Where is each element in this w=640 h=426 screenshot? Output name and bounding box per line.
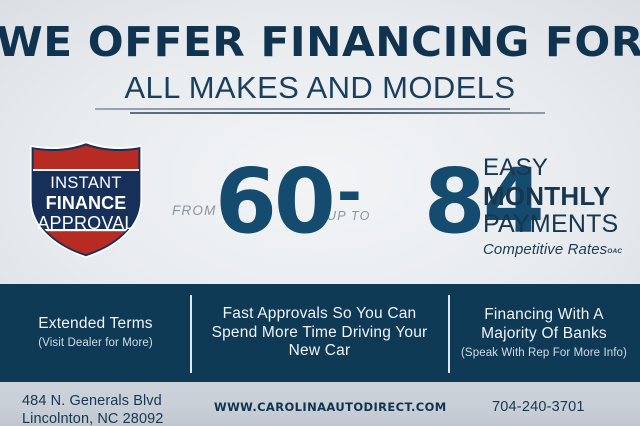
instant-finance-approval-badge: INSTANT FINANCE APPROVAL xyxy=(20,141,152,258)
address-line-2: Lincolnton, NC 28092 xyxy=(22,410,163,426)
feature-note: (Visit Dealer for More) xyxy=(8,337,183,351)
address-line-1: 484 N. Generals Blvd xyxy=(22,392,163,410)
features-band: Extended Terms (Visit Dealer for More) F… xyxy=(0,284,640,382)
from-label: FROM xyxy=(172,203,217,218)
divider-line-upper xyxy=(95,108,510,110)
feature-divider-left xyxy=(190,295,192,373)
feature-title: Extended Terms xyxy=(8,315,183,334)
feature-column-extended-terms: Extended Terms (Visit Dealer for More) xyxy=(0,315,191,351)
dealer-address: 484 N. Generals Blvd Lincolnton, NC 2809… xyxy=(22,392,163,426)
headline-primary: WE OFFER FINANCING FOR xyxy=(0,22,640,64)
term-range-dash: - xyxy=(337,166,362,221)
term-min-value: 60 xyxy=(215,161,333,243)
feature-column-majority-banks: Financing With A Majority Of Banks (Spea… xyxy=(448,306,640,361)
feature-divider-right xyxy=(448,295,450,373)
highway-shield-icon xyxy=(20,141,152,258)
monthly-payments-block: EASY MONTHLY PAYMENTS Competitive RatesO… xyxy=(483,156,635,257)
oac-superscript: OAC xyxy=(607,248,622,255)
headline-divider xyxy=(95,108,545,118)
feature-column-fast-approvals: Fast Approvals So You Can Spend More Tim… xyxy=(191,305,448,362)
competitive-rates-note: Competitive RatesOAC xyxy=(483,242,635,257)
divider-line-lower xyxy=(130,112,545,114)
terms-line-payments: PAYMENTS xyxy=(483,212,635,237)
competitive-rates-text: Competitive Rates xyxy=(483,241,607,258)
financing-promo-banner: WE OFFER FINANCING FOR ALL MAKES AND MOD… xyxy=(0,0,640,426)
feature-note: (Speak With Rep For More Info) xyxy=(456,347,632,361)
feature-title: Fast Approvals So You Can Spend More Tim… xyxy=(199,305,440,362)
dealer-phone[interactable]: 704-240-3701 xyxy=(492,399,585,415)
headline-secondary: ALL MAKES AND MODELS xyxy=(0,72,640,105)
dealer-website[interactable]: WWW.CAROLINAAUTODIRECT.COM xyxy=(214,400,447,414)
terms-line-easy: EASY xyxy=(483,156,635,180)
terms-line-monthly: MONTHLY xyxy=(483,183,635,209)
feature-title: Financing With A Majority Of Banks xyxy=(456,306,632,344)
headline-block: WE OFFER FINANCING FOR ALL MAKES AND MOD… xyxy=(0,22,640,104)
